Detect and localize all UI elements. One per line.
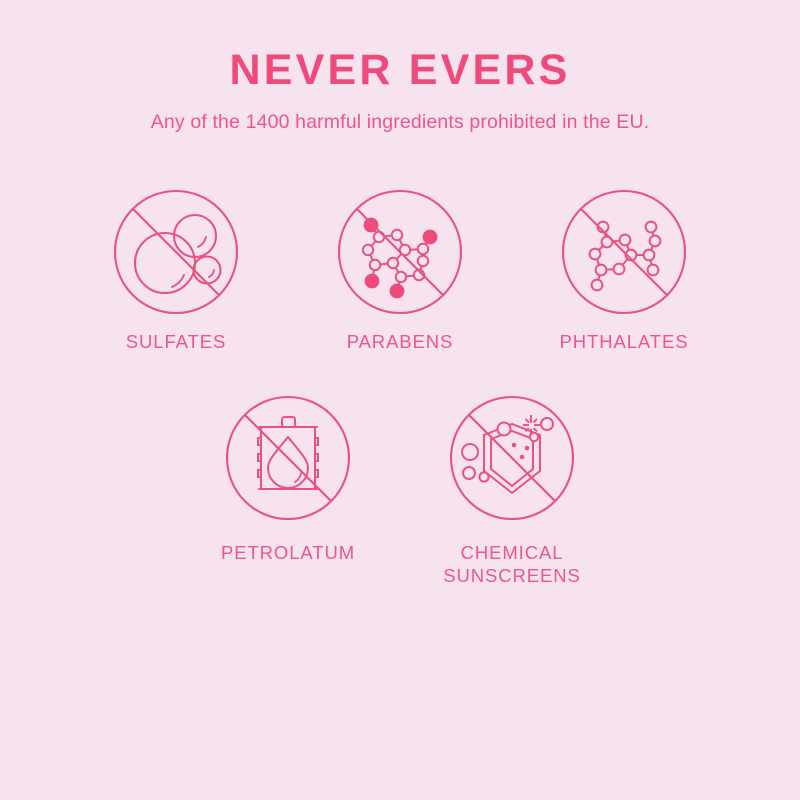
- icon-cell-sulfates: SULFATES: [103, 187, 249, 354]
- never-evers-infographic: NEVER EVERS Any of the 1400 harmful ingr…: [0, 0, 800, 800]
- page-title: NEVER EVERS: [0, 48, 800, 93]
- no-phthalates-molecule-icon: [559, 187, 689, 317]
- icon-row-2: PETROLATUM: [0, 393, 800, 587]
- icon-row-1: SULFATES: [0, 187, 800, 354]
- icon-label: PHTHALATES: [560, 331, 689, 354]
- no-sulfates-bubbles-icon: [111, 187, 241, 317]
- no-petrolatum-barrel-icon: [223, 393, 353, 523]
- icon-grid: SULFATES: [0, 187, 800, 588]
- icon-label: PETROLATUM: [221, 542, 355, 565]
- icon-cell-petrolatum: PETROLATUM: [215, 393, 361, 565]
- no-parabens-molecule-icon: [335, 187, 465, 317]
- header: NEVER EVERS Any of the 1400 harmful ingr…: [0, 0, 800, 135]
- icon-cell-phthalates: PHTHALATES: [551, 187, 697, 354]
- icon-label: SULFATES: [126, 331, 226, 354]
- icon-cell-chemical-sunscreens: CHEMICAL SUNSCREENS: [439, 393, 585, 587]
- no-chemical-sunscreens-shield-icon: [447, 393, 577, 523]
- icon-cell-parabens: PARABENS: [327, 187, 473, 354]
- icon-label: CHEMICAL SUNSCREENS: [443, 542, 581, 587]
- page-subtitle: Any of the 1400 harmful ingredients proh…: [0, 111, 800, 134]
- icon-label: PARABENS: [347, 331, 454, 354]
